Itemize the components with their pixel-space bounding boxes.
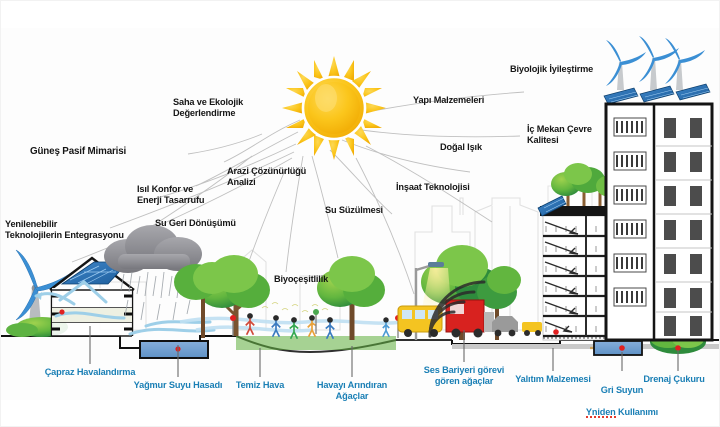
infographic-poster: Güneş Pasif Mimarisi Saha ve Ekolojik De…	[0, 0, 720, 427]
poster-frame	[0, 0, 720, 427]
